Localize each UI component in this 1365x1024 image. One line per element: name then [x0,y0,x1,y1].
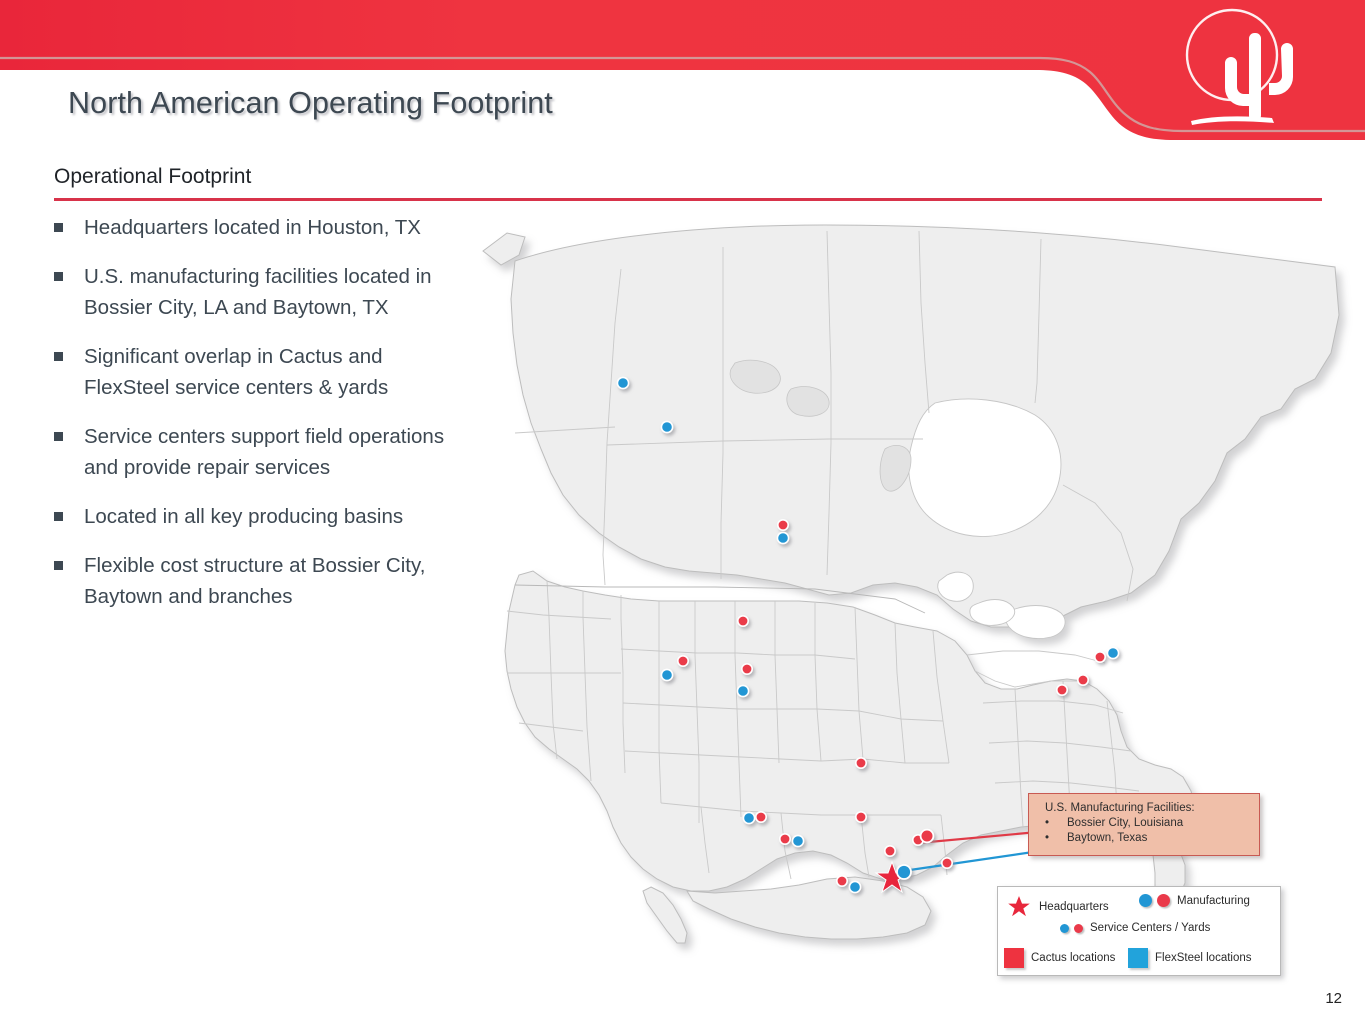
marker-flexsteel [737,685,748,696]
marker-cactus [678,656,688,666]
marker-cactus [1078,675,1088,685]
legend-item-service-centers: Service Centers / Yards [1060,922,1210,934]
marker-cactus [856,758,866,768]
legend-label-headquarters: Headquarters [1039,901,1109,913]
legend-item-cactus: Cactus locations [1004,948,1115,968]
list-item-label: Significant overlap in Cactus and FlexSt… [84,345,388,399]
manufacturing-dots-icon [1139,894,1170,907]
callout-item-label: Bossier City, Louisiana [1067,816,1183,831]
list-item: Flexible cost structure at Bossier City,… [50,550,450,612]
marker-flexsteel [849,881,860,892]
marker-flexsteel [617,377,628,388]
callout-bullet-glyph: • [1045,831,1067,846]
list-item: Located in all key producing basins [50,501,450,532]
marker-flexsteel [661,421,672,432]
list-item-label: Located in all key producing basins [84,505,403,528]
marker-cactus [738,616,748,626]
list-item: U.S. manufacturing facilities located in… [50,261,450,323]
blue-square-icon [1128,948,1148,968]
legend-label-service-centers: Service Centers / Yards [1090,922,1210,934]
list-item-label: Headquarters located in Houston, TX [84,216,421,239]
legend-item-headquarters: Headquarters [1006,894,1109,919]
legend-label-cactus: Cactus locations [1031,952,1115,964]
marker-flexsteel [1107,647,1118,658]
marker-cactus [780,834,790,844]
marker-cactus [942,858,952,868]
slide-header: North American Operating Footprint [0,0,1365,140]
callout-bullet-glyph: • [1045,816,1067,831]
legend-item-manufacturing: Manufacturing [1139,894,1250,907]
star-icon [1006,894,1032,919]
list-item: Significant overlap in Cactus and FlexSt… [50,341,450,403]
bullet-square-icon [54,352,63,361]
marker-flexsteel [743,812,754,823]
bullet-square-icon [54,432,63,441]
marker-manufacturing-flexsteel [897,865,911,879]
list-item-label: Service centers support field operations… [84,425,444,479]
callout-title: U.S. Manufacturing Facilities: [1045,801,1251,816]
marker-cactus [742,664,752,674]
marker-cactus [778,520,788,530]
bullet-square-icon [54,223,63,232]
callout-item-label: Baytown, Texas [1067,831,1147,846]
red-square-icon [1004,948,1024,968]
list-item-label: Flexible cost structure at Bossier City,… [84,554,425,608]
marker-cactus [837,876,847,886]
marker-manufacturing-cactus [921,830,934,843]
list-item: Headquarters located in Houston, TX [50,212,450,243]
marker-cactus [885,846,895,856]
marker-flexsteel [777,532,788,543]
marker-cactus [756,812,766,822]
marker-cactus [856,812,866,822]
list-item: Service centers support field operations… [50,421,450,483]
list-item-label: U.S. manufacturing facilities located in… [84,265,432,319]
callout-item: • Bossier City, Louisiana [1045,816,1251,831]
bullet-square-icon [54,512,63,521]
bullet-square-icon [54,272,63,281]
marker-cactus [1057,685,1067,695]
marker-flexsteel [661,669,672,680]
marker-flexsteel [792,835,803,846]
callout-item: • Baytown, Texas [1045,831,1251,846]
page-number: 12 [1325,990,1342,1007]
bullet-list: Headquarters located in Houston, TX U.S.… [50,212,450,630]
legend-label-manufacturing: Manufacturing [1177,895,1250,907]
manufacturing-callout: U.S. Manufacturing Facilities: • Bossier… [1028,793,1260,856]
section-heading: Operational Footprint [54,165,251,189]
service-center-dots-icon [1060,924,1083,933]
page-title: North American Operating Footprint [68,86,553,121]
map-legend: Headquarters Manufacturing Service Cente… [997,886,1281,976]
marker-cactus [1095,652,1105,662]
legend-label-flexsteel: FlexSteel locations [1155,952,1252,964]
section-divider [54,198,1322,201]
bullet-square-icon [54,561,63,570]
legend-item-flexsteel: FlexSteel locations [1128,948,1252,968]
